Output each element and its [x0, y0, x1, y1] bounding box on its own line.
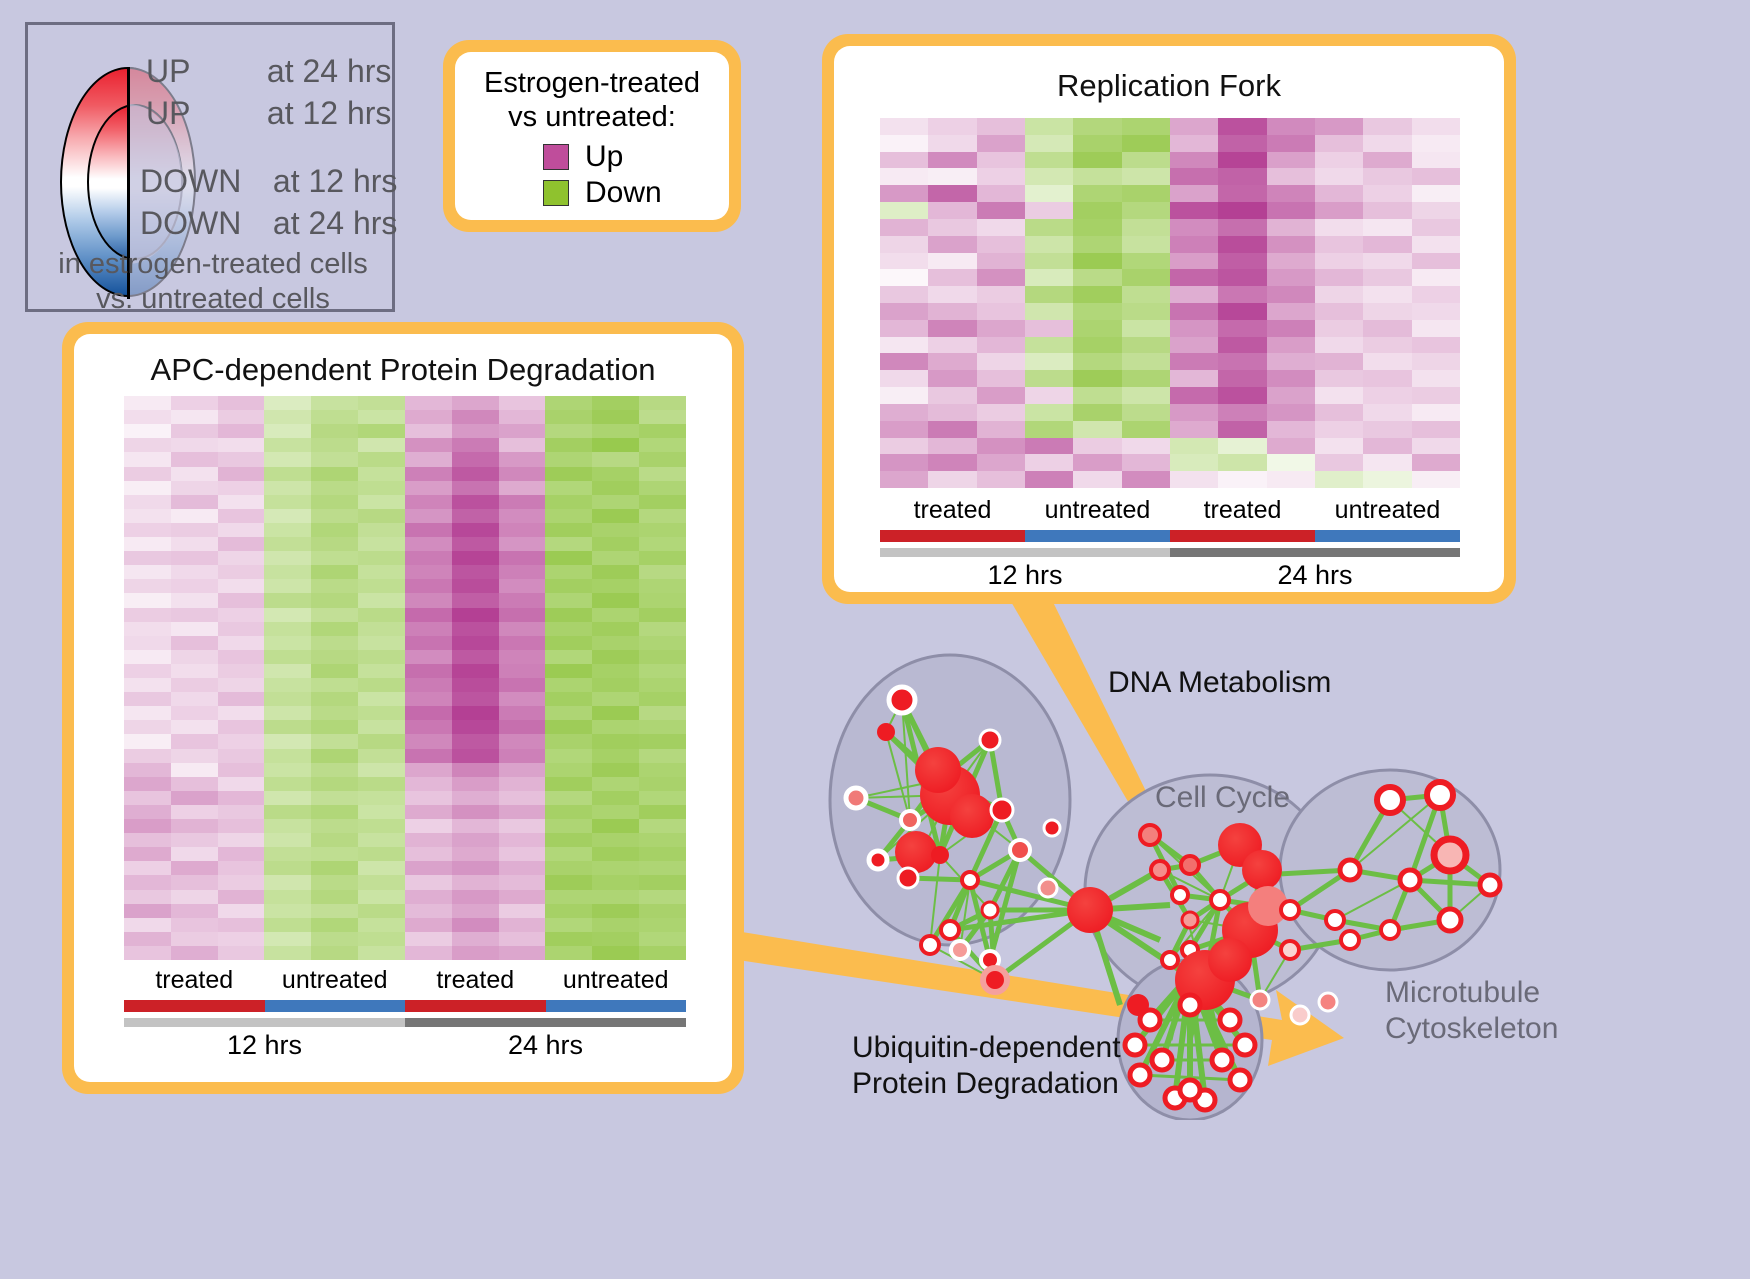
- heatmap-cell: [1412, 303, 1460, 320]
- heatmap-cell: [1122, 219, 1170, 236]
- heatmap-cell: [452, 791, 499, 805]
- heatmap-cell: [171, 805, 218, 819]
- heatmap-cell: [1122, 471, 1170, 488]
- heatmap-cell: [311, 904, 358, 918]
- heatmap-cell: [1412, 253, 1460, 270]
- heatmap-cell: [1412, 236, 1460, 253]
- heatmap-cell: [1363, 236, 1411, 253]
- heatmap-cell: [1315, 353, 1363, 370]
- heatmap-cell: [218, 819, 265, 833]
- cluster-label-microtubule-cytoskeleton: Microtubule Cytoskeleton: [1385, 975, 1558, 1047]
- heatmap-cell: [1170, 387, 1218, 404]
- heatmap-cell: [545, 650, 592, 664]
- heatmap-cell: [639, 424, 686, 438]
- heatmap-cell: [358, 424, 405, 438]
- heatmap-cell: [1122, 421, 1170, 438]
- heatmap-cell: [1073, 219, 1121, 236]
- heatmap-cell: [880, 135, 928, 152]
- wheel-term: UP: [146, 53, 258, 90]
- heatmap-cell: [218, 833, 265, 847]
- heatmap-cell: [1025, 185, 1073, 202]
- heatmap-cell: [405, 678, 452, 692]
- heatmap-cell: [1412, 387, 1460, 404]
- heatmap-cell: [592, 763, 639, 777]
- heatmap-cell: [1363, 454, 1411, 471]
- heatmap-cell: [264, 734, 311, 748]
- heatmap-cell: [928, 219, 976, 236]
- heatmap-cell: [1025, 135, 1073, 152]
- heatmap-cell: [639, 805, 686, 819]
- heatmap-cell: [171, 706, 218, 720]
- heatmap-cell: [1073, 421, 1121, 438]
- heatmap-cell: [124, 636, 171, 650]
- heatmap-cell: [977, 370, 1025, 387]
- heatmap-cell: [218, 749, 265, 763]
- heatmap-cell: [452, 777, 499, 791]
- heatmap-cell: [124, 664, 171, 678]
- apc-condition-bar: [124, 1000, 686, 1012]
- heatmap-cell: [1170, 202, 1218, 219]
- heatmap-cell: [1315, 219, 1363, 236]
- heatmap-cell: [358, 565, 405, 579]
- heatmap-cell: [499, 481, 546, 495]
- heatmap-cell: [171, 495, 218, 509]
- heatmap-cell: [639, 396, 686, 410]
- heatmap-cell: [311, 551, 358, 565]
- heatmap-cell: [977, 118, 1025, 135]
- heatmap-cell: [124, 819, 171, 833]
- heatmap-cell: [405, 565, 452, 579]
- heatmap-cell: [358, 777, 405, 791]
- heatmap-cell: [499, 819, 546, 833]
- microtubule-line-1: Microtubule: [1385, 975, 1558, 1011]
- heatmap-cell: [452, 890, 499, 904]
- heatmap-cell: [218, 777, 265, 791]
- heatmap-cell: [311, 593, 358, 607]
- heatmap-cell: [171, 763, 218, 777]
- heatmap-cell: [1073, 320, 1121, 337]
- heatmap-cell: [499, 833, 546, 847]
- heatmap-cell: [405, 847, 452, 861]
- condition-label: untreated: [546, 966, 687, 995]
- heatmap-cell: [405, 890, 452, 904]
- apc-degradation-title: APC-dependent Protein Degradation: [74, 352, 732, 388]
- heatmap-cell: [1412, 353, 1460, 370]
- down-colour-swatch: [543, 180, 569, 206]
- heatmap-cell: [1170, 454, 1218, 471]
- heatmap-cell: [452, 932, 499, 946]
- heatmap-cell: [1170, 219, 1218, 236]
- heatmap-cell: [452, 579, 499, 593]
- heatmap-cell: [639, 847, 686, 861]
- heatmap-cell: [264, 495, 311, 509]
- heatmap-cell: [264, 608, 311, 622]
- heatmap-cell: [880, 286, 928, 303]
- heatmap-cell: [171, 593, 218, 607]
- heatmap-cell: [124, 734, 171, 748]
- heatmap-cell: [592, 734, 639, 748]
- heatmap-cell: [592, 579, 639, 593]
- heatmap-cell: [880, 387, 928, 404]
- time-colour-segment: [880, 548, 1170, 557]
- heatmap-cell: [592, 791, 639, 805]
- heatmap-cell: [977, 168, 1025, 185]
- heatmap-cell: [171, 875, 218, 889]
- heatmap-cell: [1363, 353, 1411, 370]
- heatmap-cell: [452, 763, 499, 777]
- heatmap-cell: [1122, 253, 1170, 270]
- heatmap-cell: [880, 152, 928, 169]
- heatmap-cell: [264, 763, 311, 777]
- heatmap-cell: [545, 410, 592, 424]
- heatmap-cell: [405, 579, 452, 593]
- heatmap-cell: [499, 650, 546, 664]
- heatmap-cell: [452, 537, 499, 551]
- heatmap-cell: [218, 932, 265, 946]
- heatmap-cell: [358, 467, 405, 481]
- heatmap-cell: [1025, 202, 1073, 219]
- heatmap-cell: [124, 861, 171, 875]
- heatmap-cell: [1315, 404, 1363, 421]
- heatmap-cell: [1025, 421, 1073, 438]
- heatmap-cell: [592, 932, 639, 946]
- heatmap-cell: [311, 819, 358, 833]
- heatmap-cell: [405, 608, 452, 622]
- heatmap-cell: [928, 202, 976, 219]
- heatmap-cell: [264, 650, 311, 664]
- heatmap-cell: [639, 481, 686, 495]
- heatmap-cell: [1267, 370, 1315, 387]
- heatmap-cell: [171, 904, 218, 918]
- heatmap-cell: [171, 636, 218, 650]
- heatmap-cell: [977, 404, 1025, 421]
- heatmap-cell: [358, 523, 405, 537]
- heatmap-cell: [1073, 438, 1121, 455]
- heatmap-cell: [452, 410, 499, 424]
- heatmap-cell: [358, 410, 405, 424]
- heatmap-cell: [1025, 471, 1073, 488]
- heatmap-cell: [1267, 353, 1315, 370]
- heatmap-cell: [264, 833, 311, 847]
- heatmap-cell: [171, 819, 218, 833]
- heatmap-cell: [928, 337, 976, 354]
- heatmap-cell: [1412, 337, 1460, 354]
- heatmap-cell: [1218, 202, 1266, 219]
- heatmap-cell: [311, 410, 358, 424]
- heatmap-cell: [1363, 269, 1411, 286]
- heatmap-cell: [1122, 337, 1170, 354]
- heatmap-cell: [171, 452, 218, 466]
- heatmap-cell: [264, 918, 311, 932]
- heatmap-cell: [1363, 185, 1411, 202]
- heatmap-cell: [218, 650, 265, 664]
- heatmap-cell: [545, 763, 592, 777]
- heatmap-cell: [928, 135, 976, 152]
- heatmap-cell: [311, 734, 358, 748]
- heatmap-cell: [218, 495, 265, 509]
- heatmap-cell: [1267, 219, 1315, 236]
- heatmap-cell: [499, 749, 546, 763]
- heatmap-cell: [499, 452, 546, 466]
- heatmap-cell: [499, 495, 546, 509]
- heatmap-cell: [311, 720, 358, 734]
- colour-wheel-caption: in estrogen-treated cells vs. untreated …: [28, 247, 398, 318]
- heatmap-cell: [977, 236, 1025, 253]
- heatmap-cell: [545, 537, 592, 551]
- heatmap-cell: [592, 692, 639, 706]
- heatmap-cell: [545, 875, 592, 889]
- heatmap-cell: [592, 452, 639, 466]
- heatmap-cell: [639, 565, 686, 579]
- heatmap-cell: [1267, 168, 1315, 185]
- heatmap-cell: [405, 438, 452, 452]
- heatmap-cell: [124, 495, 171, 509]
- heatmap-cell: [218, 481, 265, 495]
- heatmap-cell: [499, 593, 546, 607]
- heatmap-cell: [311, 692, 358, 706]
- heatmap-cell: [452, 918, 499, 932]
- heatmap-cell: [218, 467, 265, 481]
- heatmap-cell: [1218, 454, 1266, 471]
- heatmap-cell: [264, 410, 311, 424]
- heatmap-cell: [171, 424, 218, 438]
- heatmap-cell: [928, 370, 976, 387]
- heatmap-cell: [1122, 118, 1170, 135]
- heatmap-cell: [311, 565, 358, 579]
- heatmap-cell: [1122, 286, 1170, 303]
- heatmap-cell: [1218, 253, 1266, 270]
- heatmap-cell: [452, 495, 499, 509]
- heatmap-cell: [545, 396, 592, 410]
- heatmap-cell: [880, 320, 928, 337]
- heatmap-cell: [218, 551, 265, 565]
- heatmap-cell: [218, 664, 265, 678]
- wheel-row-up-24: UP at 24 hrs: [146, 53, 391, 90]
- heatmap-cell: [499, 734, 546, 748]
- heatmap-cell: [452, 720, 499, 734]
- heatmap-cell: [1170, 253, 1218, 270]
- heatmap-cell: [1412, 152, 1460, 169]
- heatmap-cell: [545, 622, 592, 636]
- heatmap-cell: [499, 777, 546, 791]
- heatmap-cell: [452, 396, 499, 410]
- heatmap-cell: [1025, 168, 1073, 185]
- heatmap-cell: [1412, 454, 1460, 471]
- heatmap-cell: [1412, 471, 1460, 488]
- heatmap-cell: [358, 622, 405, 636]
- heatmap-cell: [1073, 135, 1121, 152]
- heatmap-cell: [405, 805, 452, 819]
- heatmap-cell: [1218, 152, 1266, 169]
- condition-label: untreated: [1025, 496, 1170, 525]
- heatmap-cell: [311, 396, 358, 410]
- heatmap-cell: [592, 861, 639, 875]
- condition-colour-segment: [265, 1000, 406, 1012]
- heatmap-cell: [592, 396, 639, 410]
- heatmap-cell: [218, 706, 265, 720]
- heatmap-cell: [452, 805, 499, 819]
- heatmap-cell: [264, 777, 311, 791]
- heatmap-cell: [358, 791, 405, 805]
- heatmap-cell: [639, 720, 686, 734]
- heatmap-cell: [171, 720, 218, 734]
- heatmap-cell: [1267, 202, 1315, 219]
- heatmap-cell: [592, 537, 639, 551]
- heatmap-cell: [1170, 337, 1218, 354]
- heatmap-cell: [545, 664, 592, 678]
- heatmap-cell: [405, 650, 452, 664]
- heatmap-cell: [358, 749, 405, 763]
- heatmap-cell: [499, 692, 546, 706]
- heatmap-cell: [1267, 236, 1315, 253]
- heatmap-cell: [452, 904, 499, 918]
- heatmap-cell: [1025, 404, 1073, 421]
- heatmap-cell: [1025, 269, 1073, 286]
- heatmap-cell: [639, 706, 686, 720]
- heatmap-cell: [639, 833, 686, 847]
- heatmap-cell: [452, 452, 499, 466]
- heatmap-cell: [171, 918, 218, 932]
- heatmap-cell: [171, 396, 218, 410]
- heatmap-cell: [1315, 185, 1363, 202]
- heatmap-cell: [452, 734, 499, 748]
- heatmap-cell: [1170, 353, 1218, 370]
- heatmap-cell: [1122, 320, 1170, 337]
- heatmap-cell: [928, 303, 976, 320]
- heatmap-cell: [405, 509, 452, 523]
- heatmap-cell: [218, 720, 265, 734]
- replication-fork-condition-bar: [880, 530, 1460, 542]
- heatmap-cell: [405, 946, 452, 960]
- heatmap-cell: [405, 763, 452, 777]
- heatmap-cell: [499, 678, 546, 692]
- heatmap-cell: [264, 438, 311, 452]
- heatmap-cell: [358, 692, 405, 706]
- heatmap-cell: [1170, 404, 1218, 421]
- apc-condition-labels: treateduntreatedtreateduntreated: [124, 966, 686, 995]
- heatmap-cell: [1267, 303, 1315, 320]
- heatmap-cell: [499, 551, 546, 565]
- heatmap-cell: [358, 509, 405, 523]
- heatmap-cell: [171, 678, 218, 692]
- heatmap-cell: [1267, 454, 1315, 471]
- heatmap-cell: [1122, 152, 1170, 169]
- heatmap-cell: [1315, 303, 1363, 320]
- condition-colour-segment: [1315, 530, 1460, 542]
- heatmap-cell: [358, 452, 405, 466]
- heatmap-cell: [1073, 269, 1121, 286]
- heatmap-cell: [639, 749, 686, 763]
- heatmap-cell: [977, 303, 1025, 320]
- condition-label: treated: [405, 966, 546, 995]
- apc-time-bar: [124, 1018, 686, 1027]
- heatmap-cell: [124, 424, 171, 438]
- heatmap-cell: [499, 946, 546, 960]
- apc-time-labels: 12 hrs24 hrs: [124, 1030, 686, 1061]
- time-label: 12 hrs: [124, 1030, 405, 1061]
- heatmap-cell: [124, 932, 171, 946]
- condition-colour-segment: [546, 1000, 687, 1012]
- heatmap-cell: [1267, 337, 1315, 354]
- heatmap-cell: [1122, 387, 1170, 404]
- heatmap-cell: [124, 410, 171, 424]
- heatmap-cell: [1170, 421, 1218, 438]
- heatmap-cell: [171, 890, 218, 904]
- heatmap-cell: [218, 424, 265, 438]
- heatmap-cell: [405, 636, 452, 650]
- heatmap-cell: [592, 664, 639, 678]
- condition-label: untreated: [265, 966, 406, 995]
- heatmap-cell: [639, 608, 686, 622]
- heatmap-cell: [171, 438, 218, 452]
- heatmap-cell: [218, 622, 265, 636]
- heatmap-cell: [1363, 370, 1411, 387]
- heatmap-cell: [452, 664, 499, 678]
- heatmap-cell: [545, 678, 592, 692]
- heatmap-cell: [639, 763, 686, 777]
- heatmap-cell: [311, 932, 358, 946]
- heatmap-cell: [592, 509, 639, 523]
- heatmap-cell: [1412, 168, 1460, 185]
- heatmap-cell: [545, 720, 592, 734]
- heatmap-cell: [218, 734, 265, 748]
- heatmap-cell: [545, 452, 592, 466]
- heatmap-cell: [311, 537, 358, 551]
- heatmap-cell: [405, 932, 452, 946]
- heatmap-cell: [264, 932, 311, 946]
- heatmap-cell: [499, 847, 546, 861]
- wheel-row-down-12: DOWN at 12 hrs: [140, 163, 397, 200]
- heatmap-cell: [311, 481, 358, 495]
- heatmap-cell: [977, 353, 1025, 370]
- heatmap-cell: [311, 791, 358, 805]
- heatmap-cell: [592, 819, 639, 833]
- heatmap-cell: [592, 678, 639, 692]
- heatmap-cell: [1363, 337, 1411, 354]
- key-item-down: Down: [543, 176, 729, 210]
- heatmap-cell: [311, 706, 358, 720]
- heatmap-cell: [977, 185, 1025, 202]
- heatmap-cell: [1025, 387, 1073, 404]
- heatmap-cell: [499, 523, 546, 537]
- heatmap-cell: [405, 622, 452, 636]
- heatmap-cell: [1170, 471, 1218, 488]
- heatmap-cell: [928, 152, 976, 169]
- heatmap-cell: [545, 636, 592, 650]
- heatmap-cell: [592, 904, 639, 918]
- replication-fork-time-labels: 12 hrs24 hrs: [880, 560, 1460, 591]
- heatmap-cell: [171, 481, 218, 495]
- ubiquitin-line-2: Protein Degradation: [852, 1066, 1121, 1102]
- heatmap-cell: [1412, 202, 1460, 219]
- heatmap-cell: [545, 481, 592, 495]
- heatmap-cell: [1363, 471, 1411, 488]
- heatmap-cell: [1315, 454, 1363, 471]
- heatmap-cell: [311, 875, 358, 889]
- heatmap-cell: [499, 467, 546, 481]
- heatmap-cell: [1412, 404, 1460, 421]
- heatmap-cell: [499, 509, 546, 523]
- heatmap-cell: [1218, 471, 1266, 488]
- heatmap-cell: [452, 551, 499, 565]
- heatmap-cell: [880, 185, 928, 202]
- heatmap-cell: [218, 636, 265, 650]
- heatmap-cell: [928, 471, 976, 488]
- heatmap-cell: [545, 438, 592, 452]
- heatmap-cell: [311, 664, 358, 678]
- heatmap-cell: [124, 593, 171, 607]
- heatmap-cell: [1025, 320, 1073, 337]
